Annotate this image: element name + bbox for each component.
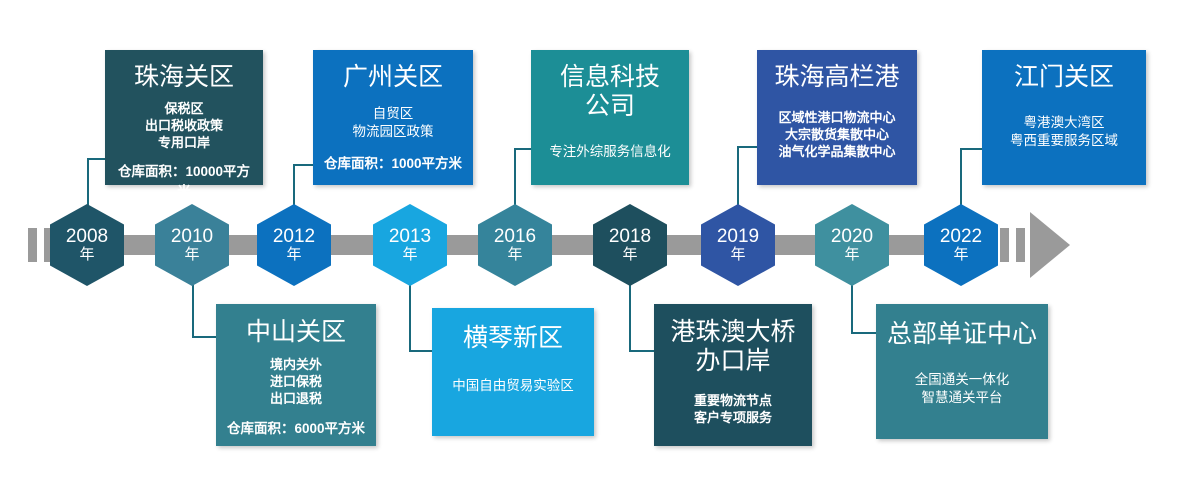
node-year: 2013 [389, 227, 431, 247]
milestone-card-2010[interactable]: 中山关区 境内关外 进口保税 出口退税 仓库面积：6000平方米 [216, 304, 376, 446]
milestone-card-2022[interactable]: 江门关区 粤港澳大湾区 粤西重要服务区域 [982, 50, 1146, 185]
milestone-card-2008[interactable]: 珠海关区 保税区 出口税收政策 专用口岸 仓库面积：10000平方米 [105, 50, 263, 185]
timeline-node-2019[interactable]: 2019 年 [701, 204, 775, 286]
node-unit: 年 [507, 247, 522, 263]
node-year: 2019 [717, 227, 759, 247]
node-year: 2008 [66, 227, 108, 247]
card-subtitle: 中国自由贸易实验区 [440, 377, 586, 395]
timeline-node-2016[interactable]: 2016 年 [478, 204, 552, 286]
card-meta: 仓库面积：10000平方米 [113, 160, 255, 200]
card-subtitle: 境内关外 进口保税 出口退税 [224, 356, 368, 407]
card-subtitle: 自贸区 物流园区政策 [321, 105, 465, 141]
node-unit: 年 [286, 247, 301, 263]
milestone-card-2018[interactable]: 港珠澳大桥 办口岸 重要物流节点 客户专项服务 [654, 304, 812, 446]
milestone-card-2020[interactable]: 总部单证中心 全国通关一体化 智慧通关平台 [876, 304, 1048, 439]
card-meta: 仓库面积：1000平方米 [321, 152, 465, 172]
card-title: 珠海关区 [113, 63, 255, 92]
node-unit: 年 [730, 247, 745, 263]
timeline-end-tick-1 [1000, 228, 1009, 262]
arrow-right-icon [1030, 212, 1070, 278]
card-subtitle: 全国通关一体化 智慧通关平台 [884, 371, 1040, 407]
node-unit: 年 [844, 247, 859, 263]
milestone-card-2013[interactable]: 横琴新区 中国自由贸易实验区 [432, 308, 594, 436]
card-title: 总部单证中心 [884, 320, 1040, 349]
card-title: 江门关区 [990, 63, 1138, 92]
card-title: 港珠澳大桥 办口岸 [662, 318, 804, 376]
node-year: 2016 [494, 227, 536, 247]
milestone-card-2012[interactable]: 广州关区 自贸区 物流园区政策 仓库面积：1000平方米 [313, 50, 473, 185]
milestone-card-2019[interactable]: 珠海高栏港 区域性港口物流中心 大宗散货集散中心 油气化学品集散中心 [757, 50, 917, 185]
card-title: 珠海高栏港 [765, 63, 909, 92]
card-subtitle: 粤港澳大湾区 粤西重要服务区域 [990, 114, 1138, 150]
node-year: 2020 [831, 227, 873, 247]
timeline-start-tick-1 [28, 228, 37, 262]
node-year: 2018 [609, 227, 651, 247]
card-title: 广州关区 [321, 63, 465, 92]
node-unit: 年 [184, 247, 199, 263]
card-subtitle: 重要物流节点 客户专项服务 [662, 392, 804, 426]
card-subtitle: 区域性港口物流中心 大宗散货集散中心 油气化学品集散中心 [765, 109, 909, 160]
node-year: 2012 [273, 227, 315, 247]
node-unit: 年 [402, 247, 417, 263]
node-year: 2022 [940, 227, 982, 247]
card-subtitle: 专注外综服务信息化 [539, 143, 681, 161]
card-subtitle: 保税区 出口税收政策 专用口岸 [113, 100, 255, 151]
timeline-node-2022[interactable]: 2022 年 [924, 204, 998, 286]
timeline-node-2013[interactable]: 2013 年 [373, 204, 447, 286]
card-title: 中山关区 [224, 318, 368, 347]
card-title: 横琴新区 [440, 324, 586, 353]
timeline-node-2012[interactable]: 2012 年 [257, 204, 331, 286]
node-unit: 年 [79, 247, 94, 263]
timeline-end-tick-2 [1016, 228, 1025, 262]
timeline-infographic: 珠海关区 保税区 出口税收政策 专用口岸 仓库面积：10000平方米 广州关区 … [0, 0, 1200, 500]
node-unit: 年 [622, 247, 637, 263]
milestone-card-2016[interactable]: 信息科技 公司 专注外综服务信息化 [531, 50, 689, 185]
card-meta: 仓库面积：6000平方米 [224, 417, 368, 437]
node-unit: 年 [953, 247, 968, 263]
card-title: 信息科技 公司 [539, 63, 681, 121]
node-year: 2010 [171, 227, 213, 247]
